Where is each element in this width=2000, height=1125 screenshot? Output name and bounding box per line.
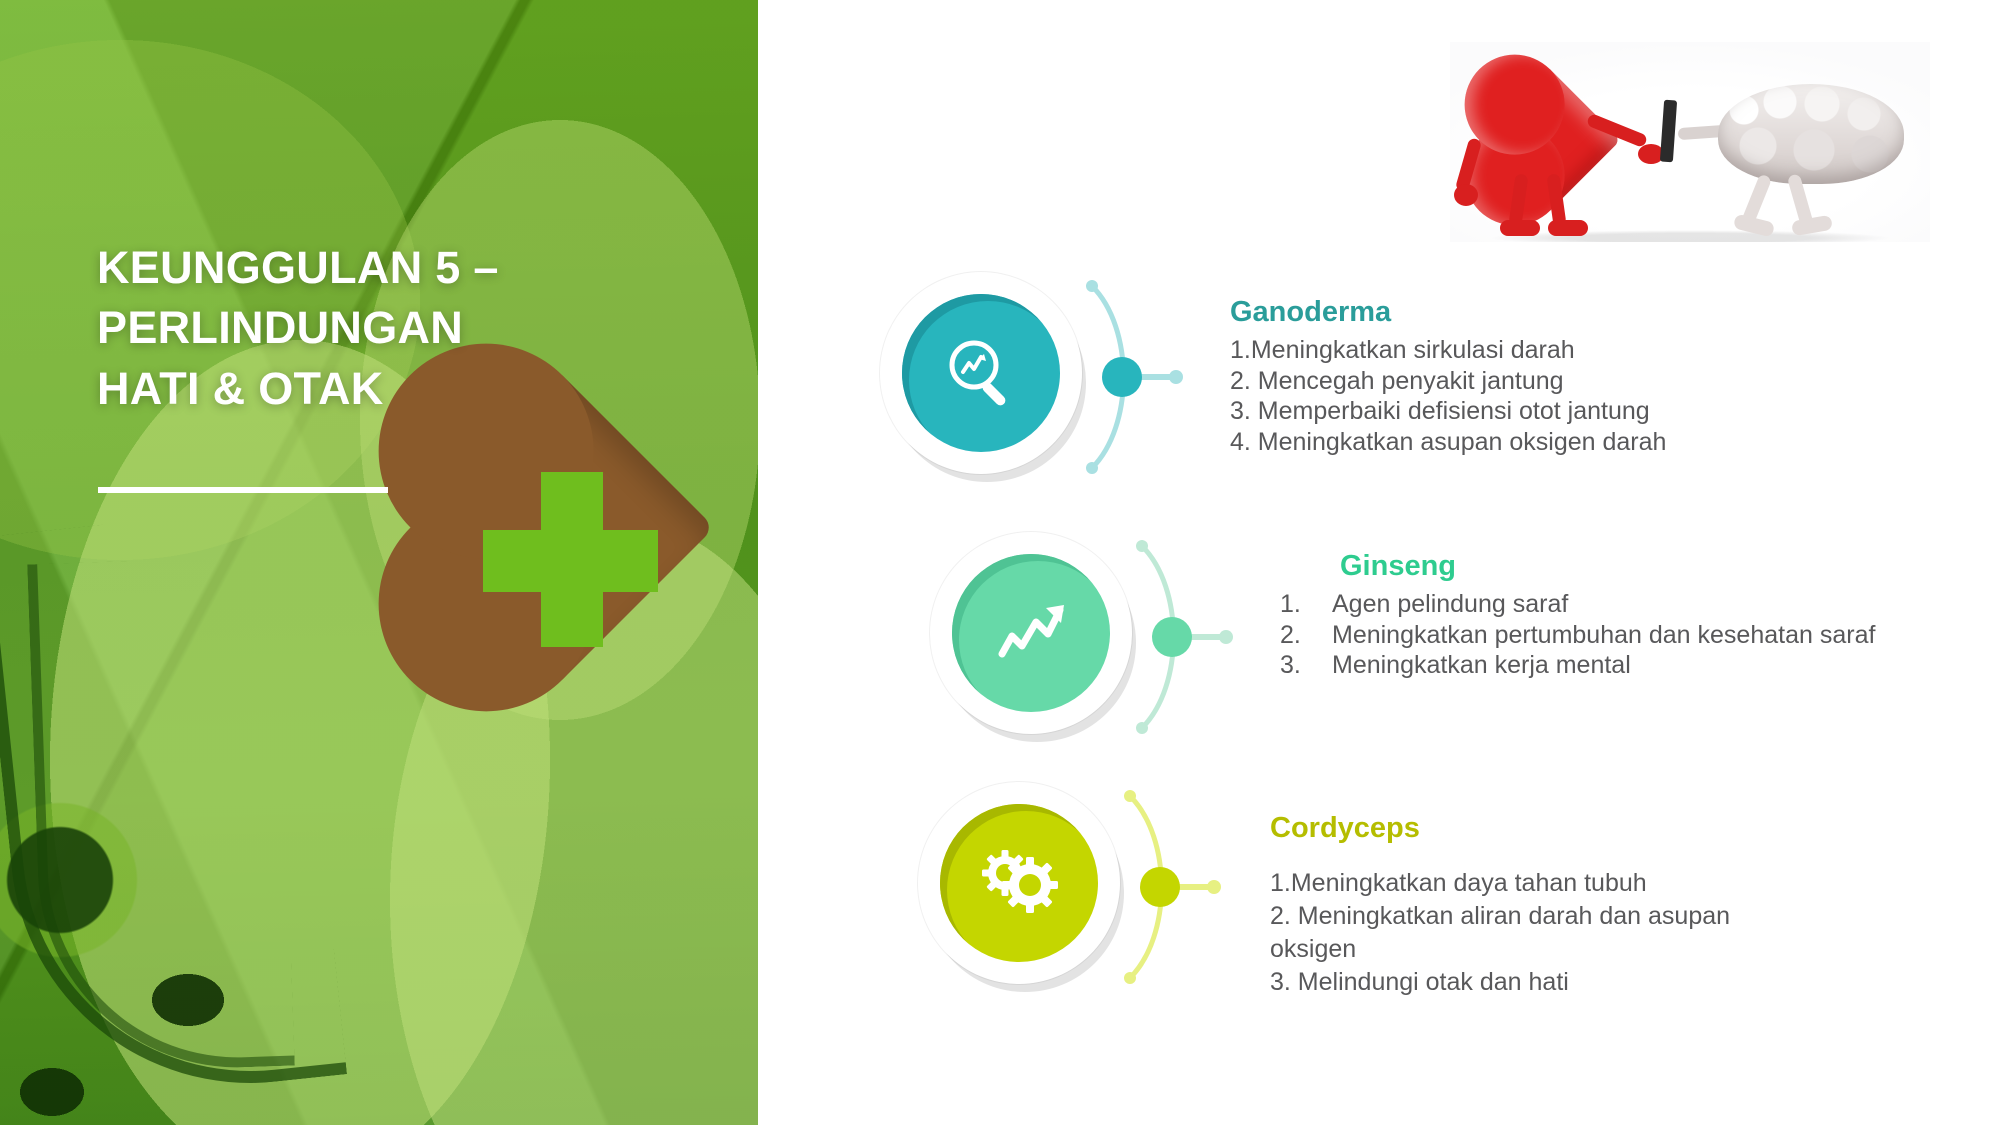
list-item-number: 3. [1280,650,1332,681]
cordyceps-text-block: Cordyceps 1.Meningkatkan daya tahan tubu… [1270,812,1910,999]
ginseng-disc [952,554,1110,712]
green-cross-icon [483,472,658,647]
list-item: 1.Meningkatkan daya tahan tubuh [1270,867,1910,900]
gears-icon [940,804,1098,962]
list-item: 3. Meningkatkan kerja mental [1280,650,1900,681]
list-item: oksigen [1270,933,1910,966]
ganoderma-heading: Ganoderma [1230,296,1850,329]
heart-left-hand [1454,184,1478,206]
title-underline-divider [98,487,388,493]
brain-character-icon [1718,84,1904,184]
list-item: 2. Meningkatkan aliran darah dan asupan [1270,900,1910,933]
ginseng-list: 1. Agen pelindung saraf 2. Meningkatkan … [1280,589,1900,681]
list-item: 4. Meningkatkan asupan oksigen darah [1230,427,1850,458]
left-hero-panel: KEUNGGULAN 5 – PERLINDUNGAN HATI & OTAK [0,0,758,1125]
relay-baton-icon [1660,100,1677,163]
list-item-label: Agen pelindung saraf [1332,589,1900,620]
ginseng-text-block: Ginseng 1. Agen pelindung saraf 2. Menin… [1280,550,1900,681]
heart-brain-relay-image [1450,42,1930,242]
page-title-line-3: HATI & OTAK [97,359,657,419]
ganoderma-disc [902,294,1060,452]
list-item: 3. Memperbaiki defisiensi otot jantung [1230,396,1850,427]
cordyceps-list: 1.Meningkatkan daya tahan tubuh 2. Menin… [1270,867,1910,999]
page-title-line-2: PERLINDUNGAN [97,298,657,358]
list-item: 1. Agen pelindung saraf [1280,589,1900,620]
ganoderma-text-block: Ganoderma 1.Meningkatkan sirkulasi darah… [1230,296,1850,457]
ginseng-connector [1102,532,1252,742]
cordyceps-disc [940,804,1098,962]
slide-root: KEUNGGULAN 5 – PERLINDUNGAN HATI & OTAK [0,0,2000,1125]
list-item: 3. Melindungi otak dan hati [1270,966,1910,999]
magnifier-chart-icon [902,294,1060,452]
list-item: 1.Meningkatkan sirkulasi darah [1230,335,1850,366]
trend-arrow-icon [952,554,1110,712]
ganoderma-list: 1.Meningkatkan sirkulasi darah 2. Menceg… [1230,335,1850,457]
cordyceps-connector [1090,782,1240,992]
list-item-label: Meningkatkan kerja mental [1332,650,1900,681]
heart-right-foot [1548,220,1588,236]
list-item-number: 1. [1280,589,1332,620]
ginseng-heading: Ginseng [1340,550,1900,583]
list-item-number: 2. [1280,620,1332,651]
page-title-line-1: KEUNGGULAN 5 – [97,238,657,298]
cordyceps-heading: Cordyceps [1270,812,1910,845]
heart-left-foot [1500,220,1540,236]
page-title: KEUNGGULAN 5 – PERLINDUNGAN HATI & OTAK [97,238,657,419]
list-item: 2. Meningkatkan pertumbuhan dan kesehata… [1280,620,1900,651]
list-item-label: Meningkatkan pertumbuhan dan kesehatan s… [1332,620,1900,651]
ganoderma-connector [1052,272,1202,482]
list-item: 2. Mencegah penyakit jantung [1230,366,1850,397]
